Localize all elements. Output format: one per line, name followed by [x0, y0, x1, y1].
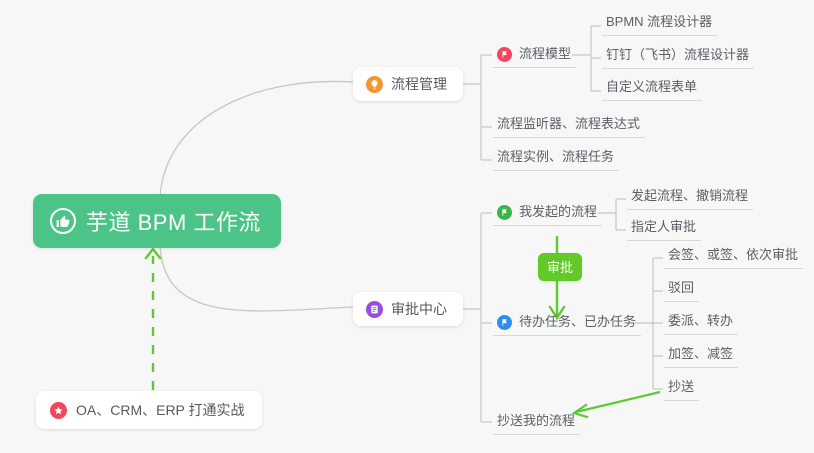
thumbs-up-icon: [50, 208, 76, 234]
flag-icon: [497, 47, 512, 62]
topic-label: 委派、转办: [668, 311, 733, 331]
star-icon: [50, 402, 67, 419]
edge-root-to-process: [160, 81, 353, 197]
topic-start-cancel-process[interactable]: 发起流程、撤销流程: [627, 186, 753, 210]
topic-label: 加签、减签: [668, 344, 733, 364]
approve-badge[interactable]: 审批: [538, 253, 582, 281]
topic-label: 会签、或签、依次审批: [668, 245, 798, 265]
branch-label-approval-center: 审批中心: [391, 299, 447, 319]
dashed-green-arrow: [146, 249, 160, 390]
topic-label: 钉钉（飞书）流程设计器: [606, 45, 749, 65]
topic-cc[interactable]: 抄送: [664, 377, 699, 401]
topic-dingtalk-designer[interactable]: 钉钉（飞书）流程设计器: [602, 45, 754, 69]
lightbulb-icon: [366, 76, 383, 93]
topic-label: BPMN 流程设计器: [606, 12, 712, 32]
topic-label: 发起流程、撤销流程: [631, 186, 748, 206]
topic-label: 流程监听器、流程表达式: [497, 114, 640, 134]
topic-reject[interactable]: 驳回: [664, 278, 699, 302]
branch-node-process-management[interactable]: 流程管理: [353, 67, 463, 101]
topic-label: 指定人审批: [631, 217, 696, 237]
topic-label: 抄送: [668, 377, 694, 397]
cc-link-arrow: [574, 392, 660, 417]
branch-label-process-management: 流程管理: [391, 74, 447, 94]
branch-node-approval-center[interactable]: 审批中心: [353, 292, 463, 326]
clipboard-icon: [366, 301, 383, 318]
topic-label: 流程模型: [519, 44, 571, 64]
topic-add-remove-sign[interactable]: 加签、减签: [664, 344, 738, 368]
topic-cc-to-me[interactable]: 抄送我的流程: [493, 411, 580, 435]
note-card-integration[interactable]: OA、CRM、ERP 打通实战: [36, 391, 262, 429]
topic-label: 抄送我的流程: [497, 411, 575, 431]
topic-delegate-transfer[interactable]: 委派、转办: [664, 311, 738, 335]
topic-label: 自定义流程表单: [606, 77, 697, 97]
topic-label: 流程实例、流程任务: [497, 147, 614, 167]
flag-icon: [497, 205, 512, 220]
topic-label: 驳回: [668, 278, 694, 298]
topic-process-model[interactable]: 流程模型: [493, 44, 576, 68]
topic-countersign[interactable]: 会签、或签、依次审批: [664, 245, 803, 269]
topic-custom-form[interactable]: 自定义流程表单: [602, 77, 702, 101]
topic-my-started-process[interactable]: 我发起的流程: [493, 202, 602, 226]
topic-label: 我发起的流程: [519, 202, 597, 222]
mindmap-canvas: 芋道 BPM 工作流 流程管理 审批中心 OA、CRM、ERP 打通实: [0, 0, 814, 453]
note-label: OA、CRM、ERP 打通实战: [76, 400, 245, 420]
topic-process-instance[interactable]: 流程实例、流程任务: [493, 147, 619, 171]
flag-icon: [497, 315, 512, 330]
topic-process-listener[interactable]: 流程监听器、流程表达式: [493, 114, 645, 138]
topic-bpmn-designer[interactable]: BPMN 流程设计器: [602, 12, 717, 36]
edge-root-to-approval: [160, 246, 353, 311]
root-label: 芋道 BPM 工作流: [86, 205, 261, 237]
topic-label: 待办任务、已办任务: [519, 312, 636, 332]
topic-assignee-approval[interactable]: 指定人审批: [627, 217, 701, 241]
root-node[interactable]: 芋道 BPM 工作流: [33, 194, 281, 248]
topic-todo-done-tasks[interactable]: 待办任务、已办任务: [493, 312, 641, 336]
